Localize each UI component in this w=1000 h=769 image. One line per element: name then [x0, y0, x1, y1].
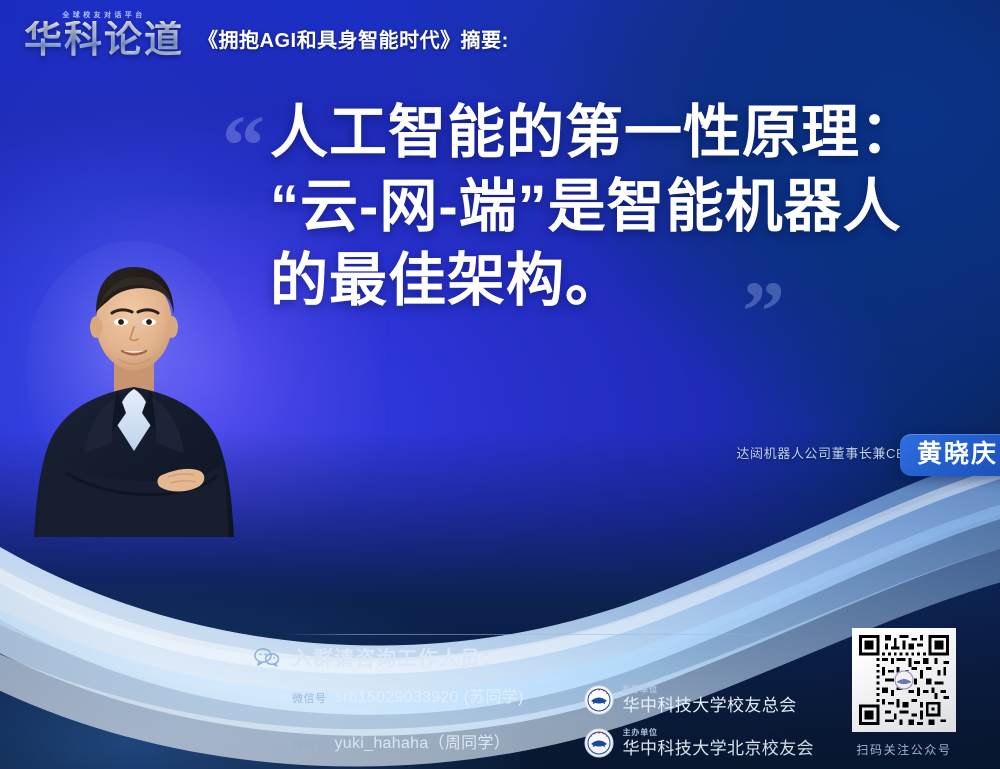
contact-value: yuki_hahaha（周同学） — [335, 729, 511, 753]
organizer-kind: 指导单位 — [623, 686, 797, 694]
university-emblem-icon — [584, 728, 614, 758]
organizer-text: 主办单位 华中科技大学北京校友会 — [623, 729, 814, 757]
speaker-info: 达闼机器人公司董事长兼CEO — [736, 443, 916, 462]
footer-body: 微信号 srh15029033920 (苏同学) 微信号 yuki_hahaha… — [254, 683, 814, 769]
organizer-row: 指导单位 华中科技大学校友总会 — [584, 685, 814, 715]
brand-logo: 全球校友对话平台 华科论道 — [24, 10, 184, 59]
university-emblem-icon — [584, 685, 614, 715]
quote-line-2: “云-网-端”是智能机器人 — [270, 170, 958, 244]
organizer-text: 指导单位 华中科技大学校友总会 — [623, 686, 797, 714]
footer-heading: 入群请咨询工作人员： — [254, 642, 814, 671]
qr-code[interactable] — [852, 628, 956, 732]
organizer-kind: 主办单位 — [623, 729, 814, 737]
poster-root: 全球校友对话平台 华科论道 《拥抱AGI和具身智能时代》摘要: “ 人工智能的第… — [0, 0, 1000, 769]
footer-title: 入群请咨询工作人员： — [292, 642, 502, 671]
qr-block: 扫码关注公众号 — [844, 628, 964, 758]
footer-section: 入群请咨询工作人员： 微信号 srh15029033920 (苏同学) 微信号 … — [254, 642, 814, 769]
contact-row: 微信号 srh15029033920 (苏同学) — [292, 683, 584, 707]
contact-value: srh15029033920 (苏同学) — [335, 683, 524, 707]
organizer-name: 华中科技大学北京校友会 — [623, 740, 814, 757]
quote-line-3: 的最佳架构。 — [270, 244, 958, 318]
footer-divider — [283, 634, 801, 635]
speaker-role: 达闼机器人公司董事长兼CEO — [736, 443, 916, 462]
organizer-row: 主办单位 华中科技大学北京校友会 — [584, 728, 814, 758]
page-title: 《拥抱AGI和具身智能时代》摘要: — [198, 24, 509, 59]
speaker-portrait — [22, 237, 246, 537]
organizer-name: 华中科技大学校友总会 — [623, 697, 797, 714]
quote-block: “ 人工智能的第一性原理： “云-网-端”是智能机器人 的最佳架构。 ” — [218, 96, 958, 319]
wechat-icon — [254, 647, 280, 667]
brand-subtitle: 全球校友对话平台 — [62, 10, 145, 20]
speaker-name-badge: 黄晓庆 — [900, 434, 1000, 476]
contact-row: 微信号 yuki_hahaha（周同学） — [292, 729, 584, 753]
brand-title: 华科论道 — [24, 21, 184, 59]
contact-label: 微信号 — [292, 736, 327, 752]
contact-label: 微信号 — [292, 690, 327, 706]
contact-list: 微信号 srh15029033920 (苏同学) 微信号 yuki_hahaha… — [254, 683, 584, 769]
quote-line-1: 人工智能的第一性原理： — [270, 96, 958, 170]
poster-header: 全球校友对话平台 华科论道 《拥抱AGI和具身智能时代》摘要: — [24, 10, 509, 59]
organizer-list: 指导单位 华中科技大学校友总会 — [584, 683, 814, 769]
quote-close-mark: ” — [742, 268, 785, 354]
qr-caption: 扫码关注公众号 — [844, 741, 964, 758]
quote-lines: 人工智能的第一性原理： “云-网-端”是智能机器人 的最佳架构。 — [218, 96, 958, 319]
